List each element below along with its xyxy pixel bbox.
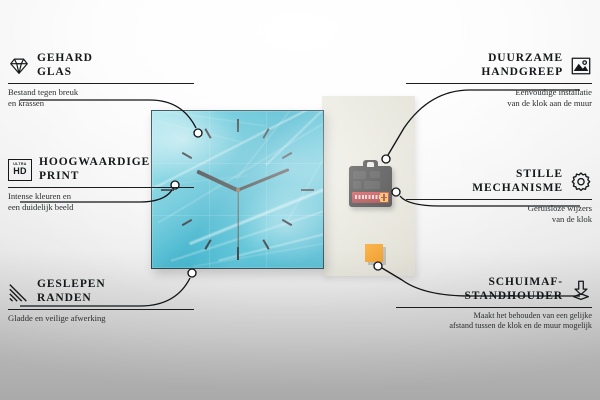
ultra-hd-icon: ultra HD bbox=[8, 159, 32, 181]
feature-schuimafstandhouder: SCHUIMAF- STANDHOUDER Maakt het behouden… bbox=[396, 276, 592, 331]
movement-hanger-tab bbox=[363, 160, 378, 168]
feature-description: Maakt het behouden van een gelijke afsta… bbox=[396, 311, 592, 331]
feature-heading: DUURZAME HANDGREEP bbox=[406, 52, 592, 79]
clock-tick bbox=[237, 247, 239, 260]
movement-detail bbox=[353, 171, 366, 179]
feature-heading: ultra HD HOOGWAARDIGE PRINT bbox=[8, 156, 194, 183]
feature-title: HOOGWAARDIGE PRINT bbox=[39, 156, 150, 183]
feature-geslepen-randen: GESLEPEN RANDEN Gladde en veilige afwerk… bbox=[8, 278, 194, 324]
feature-title: STILLE MECHANISME bbox=[472, 168, 563, 195]
feature-description: Geruisloze wijzers van de klok bbox=[406, 203, 592, 224]
feature-description: Intense kleuren en een duidelijk beeld bbox=[8, 191, 194, 212]
feature-title: GESLEPEN RANDEN bbox=[37, 278, 106, 305]
foam-spacer-block bbox=[365, 244, 383, 262]
gear-icon bbox=[570, 171, 592, 193]
feature-heading: STILLE MECHANISME bbox=[406, 168, 592, 195]
divider bbox=[396, 307, 592, 308]
feature-description: Bestand tegen breuk en krassen bbox=[8, 87, 194, 108]
battery-plus-terminal bbox=[380, 193, 388, 202]
divider bbox=[406, 83, 592, 84]
feature-gehard-glas: GEHARD GLAS Bestand tegen breuk en krass… bbox=[8, 52, 194, 108]
divider bbox=[8, 309, 194, 310]
clock-movement-module bbox=[349, 166, 392, 207]
feature-title: DUURZAME HANDGREEP bbox=[481, 52, 563, 79]
feature-hoogwaardige-print: ultra HD HOOGWAARDIGE PRINT Intense kleu… bbox=[8, 156, 194, 212]
feature-stille-mechanisme: STILLE MECHANISME Geruisloze wijzers van… bbox=[406, 168, 592, 224]
movement-detail bbox=[370, 171, 380, 178]
feature-description: Gladde en veilige afwerking bbox=[8, 313, 194, 324]
bevelled-edges-icon bbox=[8, 281, 30, 303]
clock-tick bbox=[237, 119, 239, 132]
feature-heading: SCHUIMAF- STANDHOUDER bbox=[396, 276, 592, 303]
divider bbox=[8, 187, 194, 188]
product-infographic: GEHARD GLAS Bestand tegen breuk en krass… bbox=[0, 0, 600, 400]
diamond-icon bbox=[8, 55, 30, 77]
feature-heading: GESLEPEN RANDEN bbox=[8, 278, 194, 305]
battery bbox=[352, 192, 389, 203]
feature-title: SCHUIMAF- STANDHOUDER bbox=[464, 276, 563, 303]
ultra-hd-icon-main-text: HD bbox=[13, 167, 26, 176]
feature-description: Eenvoudige installatie van de klok aan d… bbox=[406, 87, 592, 108]
battery-label bbox=[355, 195, 380, 199]
divider bbox=[8, 83, 194, 84]
clock-tick bbox=[301, 189, 314, 191]
movement-detail bbox=[353, 181, 361, 189]
down-arrow-spacer-icon bbox=[570, 279, 592, 301]
movement-detail bbox=[364, 181, 380, 189]
clock-second-hand bbox=[237, 190, 238, 248]
picture-frame-icon bbox=[570, 55, 592, 77]
feature-title: GEHARD GLAS bbox=[37, 52, 93, 79]
feature-duurzame-handgreep: DUURZAME HANDGREEP Eenvoudige installati… bbox=[406, 52, 592, 108]
divider bbox=[406, 199, 592, 200]
clock-center-pin bbox=[236, 188, 240, 192]
feature-heading: GEHARD GLAS bbox=[8, 52, 194, 79]
